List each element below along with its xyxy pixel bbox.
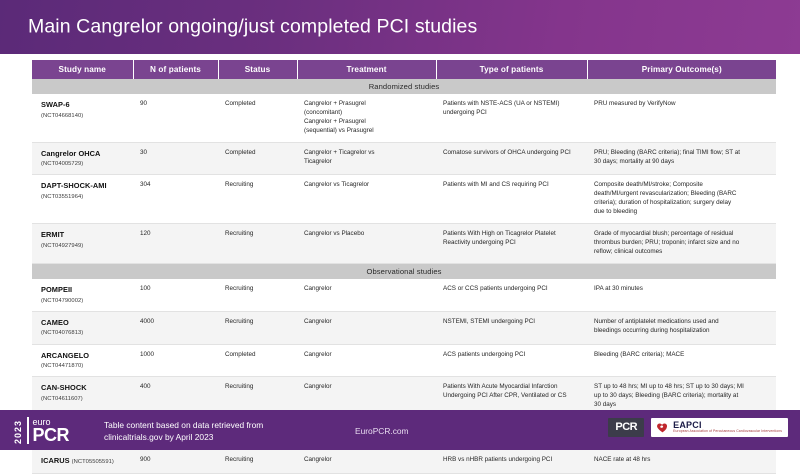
cell-type-of-patients-line: Comatose survivors of OHCA undergoing PC… xyxy=(443,149,581,158)
cell-treatment-line: Cangrelor xyxy=(304,318,430,327)
cell-treatment: Cangrelor xyxy=(297,311,436,344)
cell-type-of-patients-line: ACS patients undergoing PCI xyxy=(443,351,581,360)
cell-treatment: Cangrelor + Ticagrelor vsTicagrelor xyxy=(297,142,436,175)
cell-primary-outcomes-line: 30 days xyxy=(594,401,770,410)
study-registry-id: (NCT04790002) xyxy=(41,297,127,305)
cell-type-of-patients-line: NSTEMI, STEMI undergoing PCI xyxy=(443,318,581,327)
eapci-subtitle-label: European Association of Percutaneous Car… xyxy=(673,430,782,434)
cell-primary-outcomes-line: due to bleeding xyxy=(594,208,770,217)
cell-n-of-patients: 90 xyxy=(133,94,218,142)
column-header-type-of-patients: Type of patients xyxy=(436,60,587,79)
cell-treatment-line: (concomitant) xyxy=(304,109,430,118)
cell-primary-outcomes: Bleeding (BARC criteria); MACE xyxy=(587,344,776,377)
study-registry-id: (NCT04076813) xyxy=(41,329,127,337)
cell-primary-outcomes-line: Number of antiplatelet medications used … xyxy=(594,318,770,327)
cell-treatment-line: Cangrelor xyxy=(304,285,430,294)
pcr-badge: PCR xyxy=(608,418,644,437)
cell-study-name: SWAP-6(NCT04668140) xyxy=(32,94,133,142)
study-name-label: CAMEO xyxy=(41,318,127,329)
cell-treatment: Cangrelor xyxy=(297,279,436,311)
cell-primary-outcomes-line: PRU; Bleeding (BARC criteria); final TIM… xyxy=(594,149,770,158)
cell-study-name: ARCANGELO(NCT04471870) xyxy=(32,344,133,377)
cell-treatment-line: Cangrelor + Prasugrel xyxy=(304,118,430,127)
table-section-row: Observational studies xyxy=(32,264,776,280)
slide-root: Main Cangrelor ongoing/just completed PC… xyxy=(0,0,800,450)
cell-treatment-line: Cangrelor + Prasugrel xyxy=(304,100,430,109)
cell-treatment: Cangrelor vs Placebo xyxy=(297,224,436,264)
study-registry-id: (NCT04611607) xyxy=(41,395,127,403)
table-row[interactable]: ICARUS(NCT05505591)900RecruitingCangrelo… xyxy=(32,449,776,473)
footer-attribution: Table content based on data retrieved fr… xyxy=(104,419,263,443)
cell-n-of-patients: 4000 xyxy=(133,311,218,344)
cell-status: Recruiting xyxy=(218,311,297,344)
cell-type-of-patients: Patients with NSTE-ACS (UA or NSTEMI)und… xyxy=(436,94,587,142)
footer-logos: PCR EAPCI European Association of Percut… xyxy=(608,418,788,437)
column-header-study-name: Study name xyxy=(32,60,133,79)
table-row[interactable]: Cangrelor OHCA(NCT04005729)30CompletedCa… xyxy=(32,142,776,175)
table-row[interactable]: ERMIT(NCT04927949)120RecruitingCangrelor… xyxy=(32,224,776,264)
cell-type-of-patients-line: Reactivity undergoing PCI xyxy=(443,239,581,248)
cell-n-of-patients: 304 xyxy=(133,175,218,224)
study-name-label: SWAP-6 xyxy=(41,100,127,111)
cell-type-of-patients: Comatose survivors of OHCA undergoing PC… xyxy=(436,142,587,175)
study-name-label: Cangrelor OHCA xyxy=(41,149,127,160)
cell-study-name: ERMIT(NCT04927949) xyxy=(32,224,133,264)
page-title: Main Cangrelor ongoing/just completed PC… xyxy=(28,16,477,39)
logo-pcr-label: PCR xyxy=(33,426,70,444)
slide-title-bar: Main Cangrelor ongoing/just completed PC… xyxy=(0,0,800,54)
cell-status: Recruiting xyxy=(218,449,297,473)
table-section-label: Observational studies xyxy=(32,264,776,280)
cell-primary-outcomes-line: bleedings occurring during hospitalizati… xyxy=(594,327,770,336)
cell-primary-outcomes: NACE rate at 48 hrs xyxy=(587,449,776,473)
eapci-wordmark: EAPCI European Association of Percutaneo… xyxy=(673,421,782,434)
cell-treatment-line: Cangrelor xyxy=(304,383,430,392)
cell-treatment-line: (sequential) vs Prasugrel xyxy=(304,127,430,136)
column-header-status: Status xyxy=(218,60,297,79)
cell-type-of-patients: Patients With High on Ticagrelor Platele… xyxy=(436,224,587,264)
cell-type-of-patients-line: Patients With Acute Myocardial Infarctio… xyxy=(443,383,581,392)
study-name-label: ARCANGELO xyxy=(41,351,127,362)
table-header-row: Study name N of patients Status Treatmen… xyxy=(32,60,776,79)
cell-study-name: DAPT-SHOCK-AMI(NCT03551964) xyxy=(32,175,133,224)
table-header: Study name N of patients Status Treatmen… xyxy=(32,60,776,79)
cell-primary-outcomes: Grade of myocardial blush; percentage of… xyxy=(587,224,776,264)
study-name-label: DAPT-SHOCK-AMI xyxy=(41,181,127,192)
cell-n-of-patients: 900 xyxy=(133,449,218,473)
cell-treatment: Cangrelor xyxy=(297,344,436,377)
cell-primary-outcomes: IPA at 30 minutes xyxy=(587,279,776,311)
cell-n-of-patients: 1000 xyxy=(133,344,218,377)
cell-study-name: ICARUS(NCT05505591) xyxy=(32,449,133,473)
cell-treatment-line: Cangrelor xyxy=(304,456,430,465)
study-registry-id: (NCT04668140) xyxy=(41,112,127,120)
study-registry-id: (NCT05505591) xyxy=(72,459,114,465)
table-row[interactable]: POMPEII(NCT04790002)100RecruitingCangrel… xyxy=(32,279,776,311)
cell-primary-outcomes: PRU measured by VerifyNow xyxy=(587,94,776,142)
cell-status: Recruiting xyxy=(218,279,297,311)
cell-primary-outcomes-line: up to 30 days; Bleeding (BARC criteria);… xyxy=(594,392,770,401)
cell-primary-outcomes-line: Composite death/MI/stroke; Composite xyxy=(594,181,770,190)
column-header-treatment: Treatment xyxy=(297,60,436,79)
table-row[interactable]: CAMEO(NCT04076813)4000RecruitingCangrelo… xyxy=(32,311,776,344)
study-name-label: ICARUS xyxy=(41,456,70,465)
cell-type-of-patients: NSTEMI, STEMI undergoing PCI xyxy=(436,311,587,344)
column-header-n-of-patients: N of patients xyxy=(133,60,218,79)
cell-status: Completed xyxy=(218,142,297,175)
cell-status: Completed xyxy=(218,344,297,377)
cell-type-of-patients-line: undergoing PCI xyxy=(443,109,581,118)
cell-primary-outcomes-line: 30 days; mortality at 90 days xyxy=(594,158,770,167)
europcr-logo: 2023 euro PCR xyxy=(14,416,92,445)
cell-primary-outcomes: PRU; Bleeding (BARC criteria); final TIM… xyxy=(587,142,776,175)
cell-treatment: Cangrelor xyxy=(297,449,436,473)
cell-primary-outcomes: Number of antiplatelet medications used … xyxy=(587,311,776,344)
heart-icon xyxy=(656,421,669,434)
cell-treatment-line: Ticagrelor xyxy=(304,158,430,167)
cell-primary-outcomes-line: reflow; clinical outcomes xyxy=(594,248,770,257)
cell-type-of-patients-line: Patients with NSTE-ACS (UA or NSTEMI) xyxy=(443,100,581,109)
cell-type-of-patients: ACS patients undergoing PCI xyxy=(436,344,587,377)
logo-wordmark: euro PCR xyxy=(33,418,70,444)
study-name-label: CAN-SHOCK xyxy=(41,383,127,394)
cell-type-of-patients: ACS or CCS patients undergoing PCI xyxy=(436,279,587,311)
study-name-label: POMPEII xyxy=(41,285,127,296)
footer-attribution-line2: clinicaltrials.gov by April 2023 xyxy=(104,431,263,443)
cell-type-of-patients-line: Patients with MI and CS requiring PCI xyxy=(443,181,581,190)
study-registry-id: (NCT04471870) xyxy=(41,362,127,370)
table-row[interactable]: SWAP-6(NCT04668140)90CompletedCangrelor … xyxy=(32,94,776,142)
cell-treatment: Cangrelor + Prasugrel(concomitant)Cangre… xyxy=(297,94,436,142)
table-row[interactable]: DAPT-SHOCK-AMI(NCT03551964)304Recruiting… xyxy=(32,175,776,224)
cell-status: Completed xyxy=(218,94,297,142)
cell-status: Recruiting xyxy=(218,224,297,264)
cell-type-of-patients-line: ACS or CCS patients undergoing PCI xyxy=(443,285,581,294)
cell-primary-outcomes-line: Bleeding (BARC criteria); MACE xyxy=(594,351,770,360)
cell-primary-outcomes-line: NACE rate at 48 hrs xyxy=(594,456,770,465)
cell-type-of-patients: HRB vs nHBR patients undergoing PCI xyxy=(436,449,587,473)
footer-attribution-line1: Table content based on data retrieved fr… xyxy=(104,419,263,431)
cell-treatment-line: Cangrelor vs Placebo xyxy=(304,230,430,239)
cell-type-of-patients-line: Patients With High on Ticagrelor Platele… xyxy=(443,230,581,239)
table-section-row: Randomized studies xyxy=(32,79,776,94)
cell-primary-outcomes-line: Grade of myocardial blush; percentage of… xyxy=(594,230,770,239)
eapci-badge: EAPCI European Association of Percutaneo… xyxy=(651,418,788,437)
cell-primary-outcomes-line: ST up to 48 hrs; MI up to 48 hrs; ST up … xyxy=(594,383,770,392)
cell-primary-outcomes-line: thrombus burden; PRU; troponin; infarct … xyxy=(594,239,770,248)
cell-primary-outcomes-line: death/MI/urgent revascularization; Bleed… xyxy=(594,190,770,199)
cell-primary-outcomes-line: criteria); duration of hospitalization; … xyxy=(594,199,770,208)
study-registry-id: (NCT04927949) xyxy=(41,242,127,250)
column-header-primary-outcomes: Primary Outcome(s) xyxy=(587,60,776,79)
cell-n-of-patients: 30 xyxy=(133,142,218,175)
cell-status: Recruiting xyxy=(218,175,297,224)
cell-type-of-patients: Patients with MI and CS requiring PCI xyxy=(436,175,587,224)
cell-n-of-patients: 120 xyxy=(133,224,218,264)
study-name-label: ERMIT xyxy=(41,230,127,241)
cell-type-of-patients-line: HRB vs nHBR patients undergoing PCI xyxy=(443,456,581,465)
cell-study-name: Cangrelor OHCA(NCT04005729) xyxy=(32,142,133,175)
cell-treatment-line: Cangrelor xyxy=(304,351,430,360)
cell-treatment-line: Cangrelor + Ticagrelor vs xyxy=(304,149,430,158)
table-section-label: Randomized studies xyxy=(32,79,776,94)
logo-divider xyxy=(27,417,29,444)
cell-study-name: CAMEO(NCT04076813) xyxy=(32,311,133,344)
study-registry-id: (NCT03551964) xyxy=(41,193,127,201)
logo-year-label: 2023 xyxy=(14,417,23,444)
cell-study-name: POMPEII(NCT04790002) xyxy=(32,279,133,311)
footer-website-url[interactable]: EuroPCR.com xyxy=(355,426,409,436)
cell-primary-outcomes: Composite death/MI/stroke; Compositedeat… xyxy=(587,175,776,224)
study-registry-id: (NCT04005729) xyxy=(41,160,127,168)
table-row[interactable]: ARCANGELO(NCT04471870)1000CompletedCangr… xyxy=(32,344,776,377)
cell-type-of-patients-line: Undergoing PCI After CPR, Ventilated or … xyxy=(443,392,581,401)
cell-treatment-line: Cangrelor vs Ticagrelor xyxy=(304,181,430,190)
cell-n-of-patients: 100 xyxy=(133,279,218,311)
slide-footer: 2023 euro PCR Table content based on dat… xyxy=(0,410,800,450)
cell-primary-outcomes-line: PRU measured by VerifyNow xyxy=(594,100,770,109)
cell-primary-outcomes-line: IPA at 30 minutes xyxy=(594,285,770,294)
cell-treatment: Cangrelor vs Ticagrelor xyxy=(297,175,436,224)
